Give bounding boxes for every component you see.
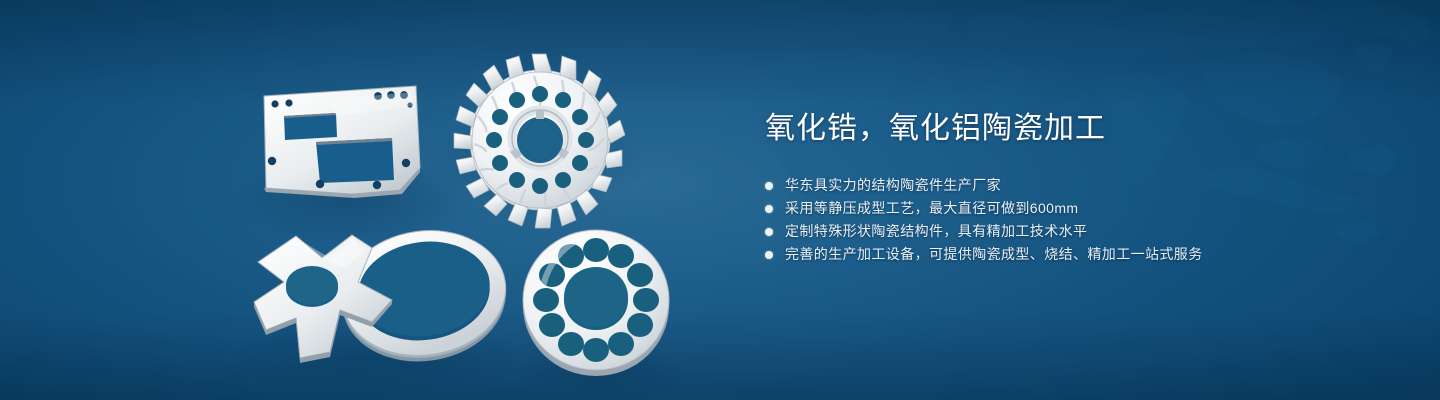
ceramic-mounting-plate <box>264 86 420 198</box>
feature-text: 华东具实力的结构陶瓷件生产厂家 <box>785 174 1001 197</box>
banner-text-block: 氧化锆，氧化铝陶瓷加工 华东具实力的结构陶瓷件生产厂家 采用等静压成型工艺，最大… <box>765 108 1385 266</box>
list-item: 定制特殊形状陶瓷结构件，具有精加工技术水平 <box>765 220 1385 243</box>
page-title: 氧化锆，氧化铝陶瓷加工 <box>765 108 1385 150</box>
hero-banner: 氧化锆，氧化铝陶瓷加工 华东具实力的结构陶瓷件生产厂家 采用等静压成型工艺，最大… <box>0 0 1440 400</box>
list-item: 完善的生产加工设备，可提供陶瓷成型、烧结、精加工一站式服务 <box>765 243 1385 266</box>
product-photo-group <box>0 0 720 400</box>
bullet-dot-icon <box>765 251 773 259</box>
list-item: 采用等静压成型工艺，最大直径可做到600mm <box>765 197 1385 220</box>
feature-text: 完善的生产加工设备，可提供陶瓷成型、烧结、精加工一站式服务 <box>785 243 1203 266</box>
feature-text: 定制特殊形状陶瓷结构件，具有精加工技术水平 <box>785 220 1087 243</box>
feature-text: 采用等静压成型工艺，最大直径可做到600mm <box>785 197 1078 220</box>
feature-list: 华东具实力的结构陶瓷件生产厂家 采用等静压成型工艺，最大直径可做到600mm 定… <box>765 174 1385 266</box>
bullet-dot-icon <box>765 182 773 190</box>
bullet-dot-icon <box>765 228 773 236</box>
bullet-dot-icon <box>765 205 773 213</box>
ceramic-perforated-disc <box>523 230 669 376</box>
list-item: 华东具实力的结构陶瓷件生产厂家 <box>765 174 1385 197</box>
